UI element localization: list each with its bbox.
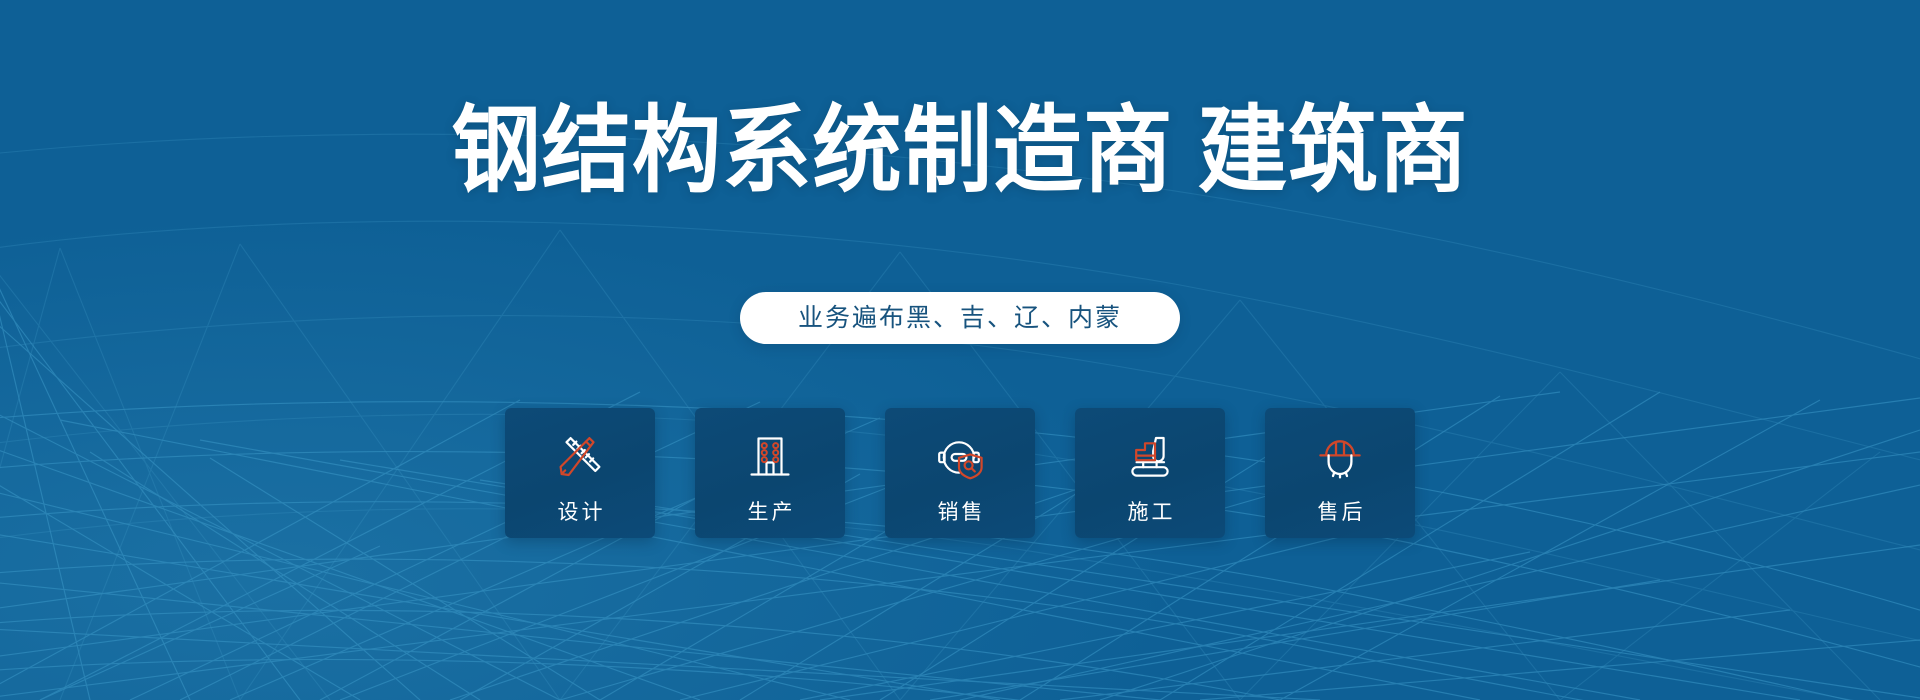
service-card-label: 设计 xyxy=(555,496,606,526)
service-card-design[interactable]: 设计 xyxy=(505,408,655,538)
headset-shield-icon xyxy=(932,426,988,488)
service-card-sales[interactable]: 销售 xyxy=(885,408,1035,538)
coverage-badge-wrapper: 业务遍布黑、吉、辽、内蒙 xyxy=(0,292,1920,344)
page-title: 钢结构系统制造商建筑商 xyxy=(58,104,1863,199)
headline-part-1: 钢结构系统制造商 xyxy=(451,98,1173,204)
hard-hat-icon xyxy=(1312,426,1368,488)
service-card-label: 施工 xyxy=(1125,496,1176,526)
excavator-icon xyxy=(1122,426,1178,488)
service-card-list: 设计 xyxy=(0,408,1920,538)
service-card-aftersales[interactable]: 售后 xyxy=(1265,408,1415,538)
service-card-label: 销售 xyxy=(935,496,986,526)
headline-part-2: 建筑商 xyxy=(1198,98,1469,204)
service-card-label: 售后 xyxy=(1315,496,1366,526)
service-card-construction[interactable]: 施工 xyxy=(1075,408,1225,538)
factory-building-icon xyxy=(742,426,798,488)
coverage-badge: 业务遍布黑、吉、辽、内蒙 xyxy=(740,292,1180,344)
service-card-label: 生产 xyxy=(745,496,796,526)
ruler-pencil-icon xyxy=(552,426,608,488)
service-card-production[interactable]: 生产 xyxy=(695,408,845,538)
hero-banner: 钢结构系统制造商建筑商 业务遍布黑、吉、辽、内蒙 xyxy=(0,0,1920,700)
